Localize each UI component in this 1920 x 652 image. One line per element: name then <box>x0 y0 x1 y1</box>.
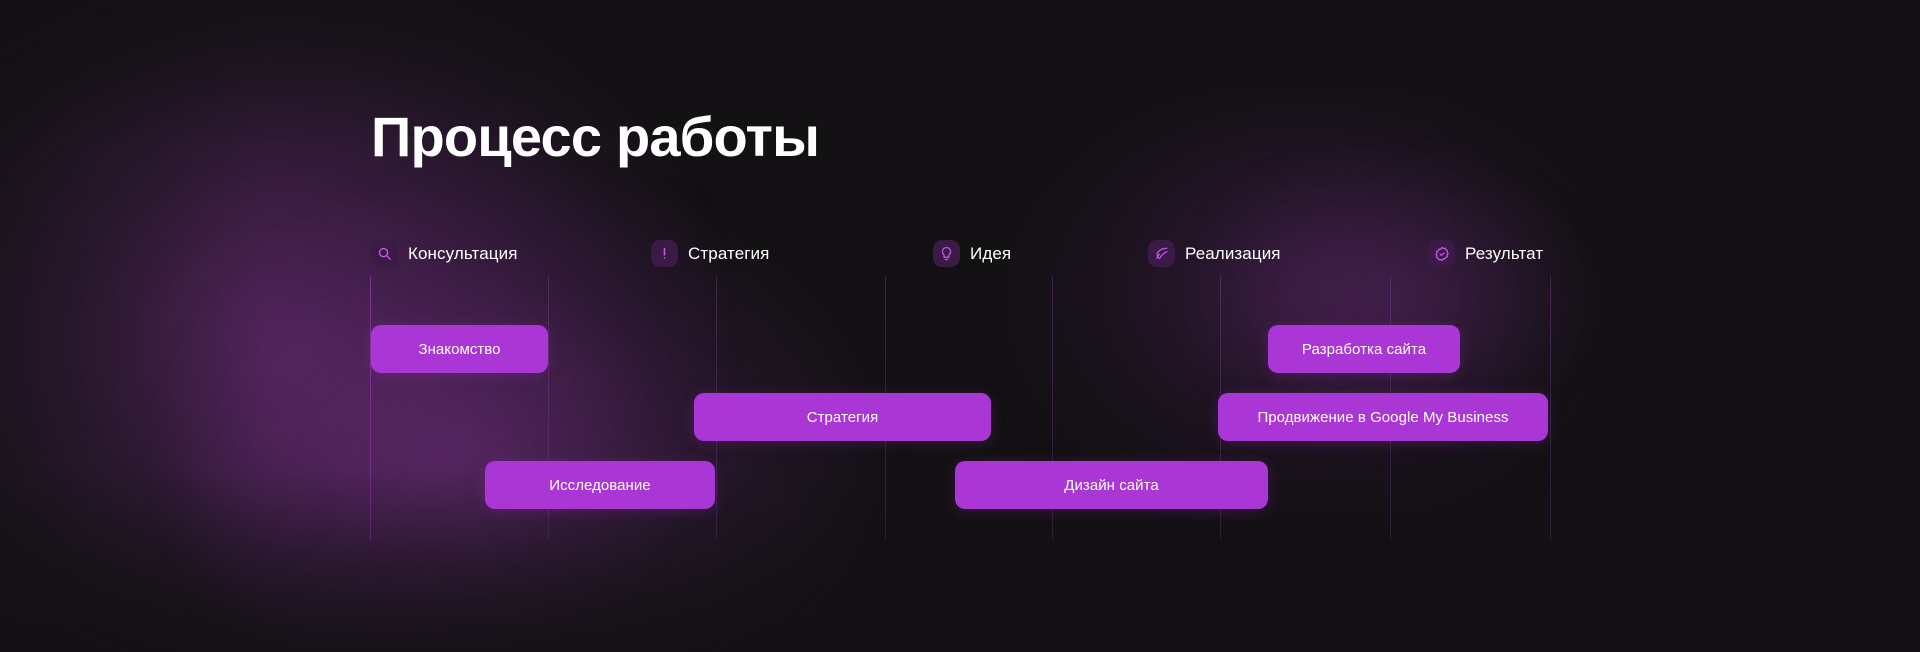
timeline-bar[interactable]: Знакомство <box>371 325 548 373</box>
timeline-bar[interactable]: Дизайн сайта <box>955 461 1268 509</box>
gridline-7 <box>1550 276 1551 540</box>
timeline-bar[interactable]: Исследование <box>485 461 715 509</box>
gridline-0 <box>370 276 371 540</box>
column-header-label: Результат <box>1465 244 1543 264</box>
column-header-label: Стратегия <box>688 244 769 264</box>
column-header-label: Консультация <box>408 244 518 264</box>
column-header-4[interactable]: Реализация <box>1148 240 1281 267</box>
column-header-5[interactable]: Результат <box>1428 240 1543 267</box>
column-header-2[interactable]: Стратегия <box>651 240 769 267</box>
exclamation-icon <box>651 240 678 267</box>
column-header-1[interactable]: Консультация <box>371 240 518 267</box>
timeline-bar[interactable]: Разработка сайта <box>1268 325 1460 373</box>
timeline-bar[interactable]: Продвижение в Google My Business <box>1218 393 1548 441</box>
column-header-label: Реализация <box>1185 244 1281 264</box>
column-header-3[interactable]: Идея <box>933 240 1011 267</box>
page-content: Процесс работы КонсультацияСтратегияИдея… <box>0 0 1920 652</box>
rocket-leaf-icon <box>1148 240 1175 267</box>
timeline-bar[interactable]: Стратегия <box>694 393 991 441</box>
lightbulb-icon <box>933 240 960 267</box>
process-timeline-chart: КонсультацияСтратегияИдеяРеализацияРезул… <box>0 0 1920 652</box>
badge-check-icon <box>1428 240 1455 267</box>
search-icon <box>371 240 398 267</box>
column-header-label: Идея <box>970 244 1011 264</box>
